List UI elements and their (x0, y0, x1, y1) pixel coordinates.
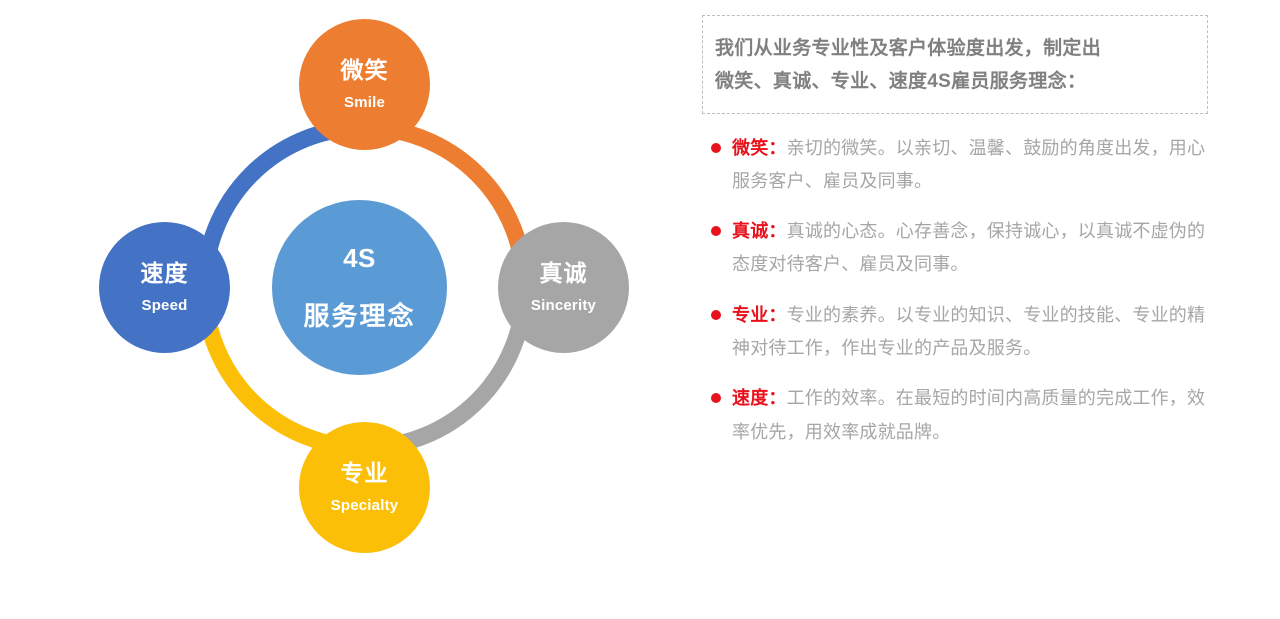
node-speed-label-en: Speed (141, 297, 187, 314)
node-speed-label-cn: 速度 (141, 261, 189, 286)
bullet-keyword: 微笑： (732, 138, 787, 158)
node-specialty[interactable]: 专业 Specialty (299, 422, 430, 553)
bullet-text: 速度：工作的效率。在最短的时间内高质量的完成工作，效率优先，用效率成就品牌。 (732, 382, 1214, 449)
list-item: 真诚：真诚的心态。心存善念，保持诚心，以真诚不虚伪的态度对待客户、雇员及同事。 (702, 215, 1214, 282)
bullet-dot-icon (711, 226, 721, 236)
node-sincerity-label-en: Sincerity (531, 297, 596, 314)
bullet-body: 真诚的心态。心存善念，保持诚心，以真诚不虚伪的态度对待客户、雇员及同事。 (732, 221, 1205, 274)
bullet-dot-icon (711, 143, 721, 153)
bullet-body: 专业的素养。以专业的知识、专业的技能、专业的精神对待工作，作出专业的产品及服务。 (732, 305, 1205, 358)
bullet-dot-icon (711, 393, 721, 403)
list-item: 速度：工作的效率。在最短的时间内高质量的完成工作，效率优先，用效率成就品牌。 (702, 382, 1214, 449)
bullet-keyword: 专业： (732, 305, 787, 325)
center-label-service-concept: 服务理念 (303, 296, 415, 333)
center-label-4s: 4S (343, 243, 376, 274)
node-speed[interactable]: 速度 Speed (99, 222, 230, 353)
node-specialty-label-en: Specialty (331, 497, 399, 514)
list-item: 专业：专业的素养。以专业的知识、专业的技能、专业的精神对待工作，作出专业的产品及… (702, 299, 1214, 366)
headline-box: 我们从业务专业性及客户体验度出发，制定出 微笑、真诚、专业、速度4S雇员服务理念… (702, 15, 1208, 114)
bullet-keyword: 速度： (732, 388, 787, 408)
bullet-body: 工作的效率。在最短的时间内高质量的完成工作，效率优先，用效率成就品牌。 (732, 388, 1205, 441)
node-smile-label-en: Smile (344, 94, 385, 111)
bullet-body: 亲切的微笑。以亲切、温馨、鼓励的角度出发，用心服务客户、雇员及同事。 (732, 138, 1205, 191)
headline-line-1: 我们从业务专业性及客户体验度出发，制定出 (715, 32, 1195, 65)
node-specialty-label-cn: 专业 (341, 461, 389, 486)
bullet-text: 微笑：亲切的微笑。以亲切、温馨、鼓励的角度出发，用心服务客户、雇员及同事。 (732, 132, 1214, 199)
bullet-list: 微笑：亲切的微笑。以亲切、温馨、鼓励的角度出发，用心服务客户、雇员及同事。 真诚… (702, 132, 1214, 449)
node-center-4s[interactable]: 4S 服务理念 (272, 200, 447, 375)
node-sincerity-label-cn: 真诚 (540, 261, 588, 286)
node-smile[interactable]: 微笑 Smile (299, 19, 430, 150)
node-smile-label-cn: 微笑 (341, 58, 389, 83)
bullet-text: 真诚：真诚的心态。心存善念，保持诚心，以真诚不虚伪的态度对待客户、雇员及同事。 (732, 215, 1214, 282)
node-sincerity[interactable]: 真诚 Sincerity (498, 222, 629, 353)
text-panel: 我们从业务专业性及客户体验度出发，制定出 微笑、真诚、专业、速度4S雇员服务理念… (702, 15, 1208, 466)
bullet-text: 专业：专业的素养。以专业的知识、专业的技能、专业的精神对待工作，作出专业的产品及… (732, 299, 1214, 366)
four-s-circle-diagram: 微笑 Smile 真诚 Sincerity 专业 Specialty 速度 Sp… (0, 0, 660, 619)
bullet-keyword: 真诚： (732, 221, 787, 241)
list-item: 微笑：亲切的微笑。以亲切、温馨、鼓励的角度出发，用心服务客户、雇员及同事。 (702, 132, 1214, 199)
bullet-dot-icon (711, 310, 721, 320)
headline-line-2: 微笑、真诚、专业、速度4S雇员服务理念： (715, 65, 1195, 98)
